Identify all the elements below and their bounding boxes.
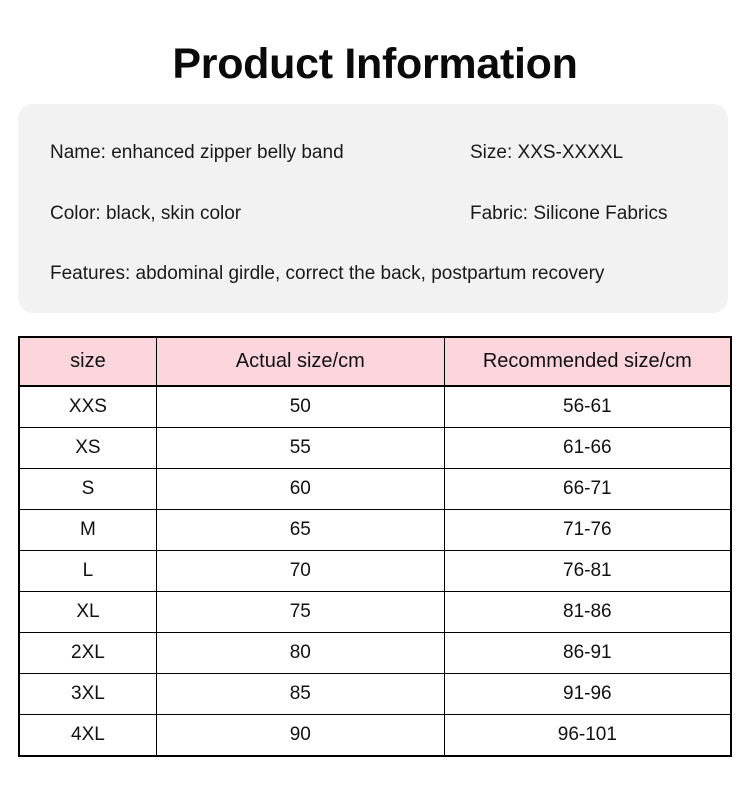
cell-actual-size: 80 [156, 633, 444, 674]
cell-actual-size: 90 [156, 715, 444, 757]
info-features-value: Features: abdominal girdle, correct the … [50, 263, 604, 285]
cell-actual-size: 60 [156, 469, 444, 510]
table-header-row: size Actual size/cm Recommended size/cm [19, 337, 731, 386]
info-color-value: Color: black, skin color [50, 203, 241, 225]
size-chart-body: XXS 50 56-61 XS 55 61-66 S 60 66-71 M 65… [19, 386, 731, 756]
cell-recommended-size: 76-81 [444, 551, 731, 592]
cell-size: XS [19, 428, 156, 469]
cell-size: 2XL [19, 633, 156, 674]
info-row: Features: abdominal girdle, correct the … [18, 263, 728, 285]
table-row: 2XL 80 86-91 [19, 633, 731, 674]
cell-recommended-size: 71-76 [444, 510, 731, 551]
info-row: Color: black, skin color Fabric: Silicon… [18, 203, 728, 225]
table-row: XL 75 81-86 [19, 592, 731, 633]
table-row: 3XL 85 91-96 [19, 674, 731, 715]
cell-recommended-size: 81-86 [444, 592, 731, 633]
cell-size: L [19, 551, 156, 592]
table-row: XXS 50 56-61 [19, 386, 731, 428]
table-row: S 60 66-71 [19, 469, 731, 510]
cell-size: 3XL [19, 674, 156, 715]
column-header-recommended-size: Recommended size/cm [444, 337, 731, 386]
cell-recommended-size: 91-96 [444, 674, 731, 715]
cell-recommended-size: 66-71 [444, 469, 731, 510]
cell-actual-size: 85 [156, 674, 444, 715]
cell-size: M [19, 510, 156, 551]
size-chart-table: size Actual size/cm Recommended size/cm … [18, 336, 732, 757]
table-row: 4XL 90 96-101 [19, 715, 731, 757]
cell-size: S [19, 469, 156, 510]
page-title: Product Information [0, 38, 750, 90]
product-info-panel: Name: enhanced zipper belly band Size: X… [18, 104, 728, 313]
cell-actual-size: 50 [156, 386, 444, 428]
table-row: M 65 71-76 [19, 510, 731, 551]
cell-actual-size: 65 [156, 510, 444, 551]
cell-actual-size: 75 [156, 592, 444, 633]
cell-size: XL [19, 592, 156, 633]
table-row: XS 55 61-66 [19, 428, 731, 469]
cell-size: XXS [19, 386, 156, 428]
product-information-page: Product Information Name: enhanced zippe… [0, 0, 750, 804]
cell-actual-size: 55 [156, 428, 444, 469]
cell-size: 4XL [19, 715, 156, 757]
table-row: L 70 76-81 [19, 551, 731, 592]
cell-recommended-size: 96-101 [444, 715, 731, 757]
column-header-size: size [19, 337, 156, 386]
info-size-value: Size: XXS-XXXXL [470, 142, 623, 164]
cell-recommended-size: 61-66 [444, 428, 731, 469]
cell-actual-size: 70 [156, 551, 444, 592]
info-fabric-value: Fabric: Silicone Fabrics [470, 203, 667, 225]
cell-recommended-size: 56-61 [444, 386, 731, 428]
cell-recommended-size: 86-91 [444, 633, 731, 674]
info-name-value: Name: enhanced zipper belly band [50, 142, 344, 164]
column-header-actual-size: Actual size/cm [156, 337, 444, 386]
info-row: Name: enhanced zipper belly band Size: X… [18, 142, 728, 164]
